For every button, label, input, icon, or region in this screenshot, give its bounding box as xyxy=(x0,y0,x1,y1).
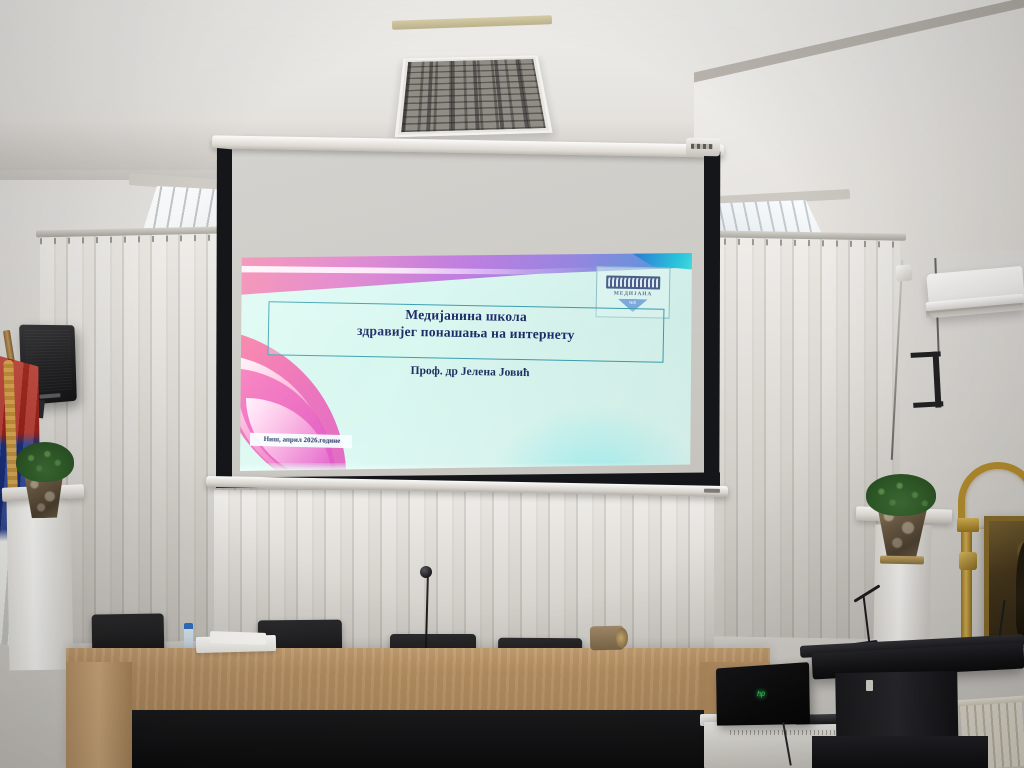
conference-table-left-panel xyxy=(66,662,132,768)
louver-bars xyxy=(401,59,546,132)
rolled-document-end xyxy=(616,628,628,648)
podium-base xyxy=(812,736,988,768)
projection-screen-border-left xyxy=(216,148,232,486)
conference-table-front-panel xyxy=(132,710,704,768)
ceiling-light-center-icon xyxy=(395,55,553,137)
conference-room-scene: МЕДИЈАНА NIŠ Медијанина школа здравијег … xyxy=(0,0,1024,768)
vertical-blinds-right[interactable] xyxy=(710,236,900,639)
projection-screen-endcap xyxy=(686,138,720,157)
speaker-badge xyxy=(39,393,60,399)
artwork-column-capital xyxy=(959,552,977,570)
logo-building-icon xyxy=(606,275,660,289)
plant-pot-right-rim xyxy=(880,556,924,565)
potted-plant-left-foliage xyxy=(16,442,74,482)
framed-icon-artwork xyxy=(958,462,1024,662)
logo-chevron-label: NIŠ xyxy=(618,299,648,308)
hp-laptop[interactable] xyxy=(716,662,810,726)
projected-slide: МЕДИЈАНА NIŠ Медијанина школа здравијег … xyxy=(240,253,692,471)
wall-mount-bracket-icon xyxy=(911,351,948,409)
microphone-icon[interactable] xyxy=(420,566,432,578)
water-bottle-cap[interactable] xyxy=(184,623,193,629)
projection-screen-border-right xyxy=(704,150,721,486)
papers-stack-top[interactable] xyxy=(210,631,266,645)
podium-button[interactable] xyxy=(866,680,873,691)
pedestal-left xyxy=(7,499,74,670)
artwork-column xyxy=(961,518,972,648)
slide-date: Ниш, април 2026.године xyxy=(252,433,352,448)
logo-wordmark: МЕДИЈАНА xyxy=(597,290,669,297)
slide-arc-glow xyxy=(490,403,692,471)
wall-sensor-icon xyxy=(895,264,912,281)
hp-logo-icon xyxy=(753,687,769,701)
blinds-shade xyxy=(710,236,900,639)
artwork-column-cap xyxy=(957,518,979,532)
potted-plant-right-foliage xyxy=(866,474,936,516)
artwork-frame xyxy=(984,516,1024,648)
